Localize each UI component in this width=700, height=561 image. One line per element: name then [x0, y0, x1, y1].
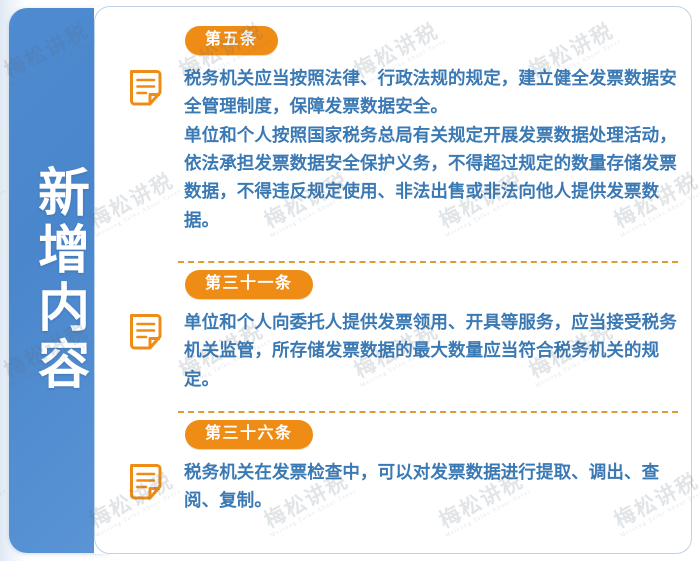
article-body-row: 单位和个人向委托人提供发票领用、开具等服务，应当接受税务机关监管，所存储发票数据…	[120, 308, 686, 393]
article-text: 税务机关在发票检查中，可以对发票数据进行提取、调出、查阅、复制。	[184, 458, 686, 515]
document-note-icon	[126, 67, 170, 111]
document-note-icon	[126, 461, 170, 505]
article-badge: 第三十一条	[185, 270, 313, 299]
article-badge-row: 第三十一条	[120, 270, 686, 299]
article-block: 第五条 税务机关应当按照法律、行政法规的规定，建立健全发票数据安全管理制度，保障…	[120, 26, 686, 234]
article-badge: 第三十六条	[185, 420, 313, 449]
section-divider	[178, 261, 678, 263]
article-block: 第三十六条 税务机关在发票检查中，可以对发票数据进行提取、调出、查阅、复制。	[120, 420, 686, 515]
document-note-icon	[126, 311, 170, 355]
article-body-row: 税务机关在发票检查中，可以对发票数据进行提取、调出、查阅、复制。	[120, 458, 686, 515]
article-badge-row: 第五条	[120, 26, 686, 55]
article-text: 税务机关应当按照法律、行政法规的规定，建立健全发票数据安全管理制度，保障发票数据…	[184, 64, 686, 234]
article-badge-row: 第三十六条	[120, 420, 686, 449]
infographic-root: 新 增 内 容 第五条 税务机关应	[0, 0, 700, 561]
article-block: 第三十一条 单位和个人向委托人提供发票领用、开具等服务，应当接受税务机关监管，所…	[120, 270, 686, 393]
article-body-row: 税务机关应当按照法律、行政法规的规定，建立健全发票数据安全管理制度，保障发票数据…	[120, 64, 686, 234]
article-text: 单位和个人向委托人提供发票领用、开具等服务，应当接受税务机关监管，所存储发票数据…	[184, 308, 686, 393]
card-content: 第五条 税务机关应当按照法律、行政法规的规定，建立健全发票数据安全管理制度，保障…	[0, 0, 700, 561]
section-divider	[178, 411, 678, 413]
article-badge: 第五条	[185, 26, 278, 55]
